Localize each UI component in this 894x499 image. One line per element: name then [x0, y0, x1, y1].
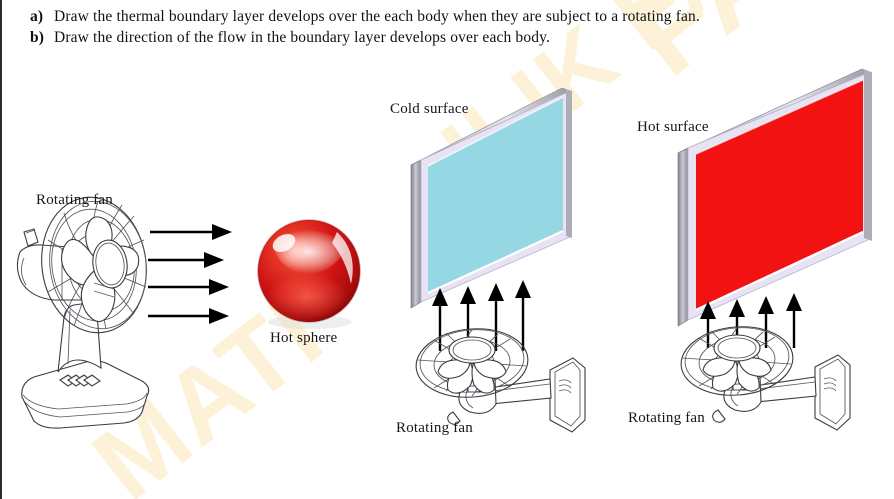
- flow-arrow: [758, 296, 774, 348]
- pedestal-fan-left: [17, 190, 155, 428]
- flow-arrows-left: [148, 224, 232, 324]
- hot-surface-plate: [678, 69, 872, 326]
- label-cold-surface: Cold surface: [390, 101, 469, 118]
- flow-arrow: [148, 279, 229, 295]
- label-hot-surface: Hot surface: [637, 119, 709, 136]
- flow-arrow: [150, 224, 232, 240]
- hot-sphere: [258, 220, 360, 329]
- figure-page: FAK ILIK FAK MATI a) Draw the thermal bo…: [0, 0, 894, 499]
- cold-surface-plate: [411, 88, 572, 308]
- flow-arrow: [148, 308, 229, 324]
- label-hot-sphere: Hot sphere: [270, 330, 337, 347]
- flow-arrow: [148, 252, 224, 268]
- label-rotating-fan-right: Rotating fan: [628, 410, 705, 427]
- label-rotating-fan-left: Rotating fan: [36, 192, 113, 209]
- label-rotating-fan-middle: Rotating fan: [396, 420, 473, 437]
- flow-arrow: [786, 293, 802, 348]
